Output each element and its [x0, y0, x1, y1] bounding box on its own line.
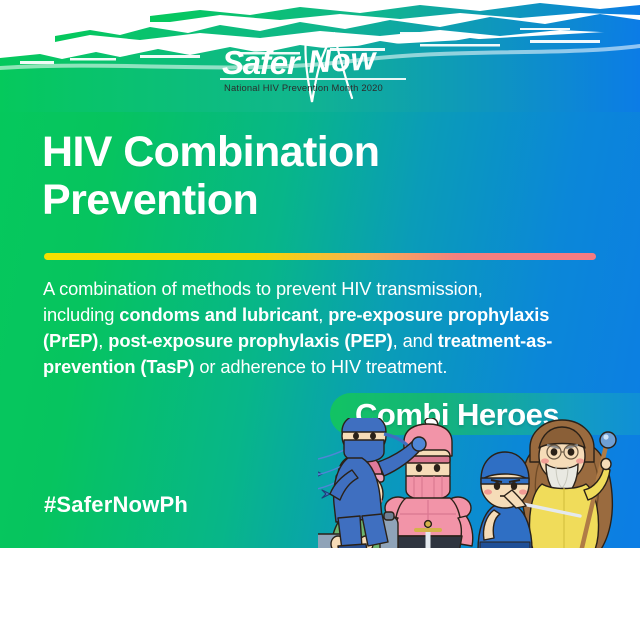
- header-brush-artwork: Safer Now National HIV Prevention Month …: [0, 0, 640, 112]
- body-seg-5: or adherence to HIV treatment.: [194, 356, 447, 377]
- logo-tagline: National HIV Prevention Month 2020: [224, 82, 383, 93]
- logo-underline: [220, 78, 406, 80]
- poster-canvas: Safer Now National HIV Prevention Month …: [0, 0, 640, 640]
- title-line-2: Prevention: [42, 176, 562, 224]
- body-copy: A combination of methods to prevent HIV …: [43, 276, 553, 380]
- body-bold-1: condoms and lubricant: [119, 304, 318, 325]
- body-seg-2: ,: [318, 304, 328, 325]
- logo-text-safer: Safer: [222, 44, 299, 82]
- body-bold-3: post-exposure prophylaxis (PEP): [108, 330, 392, 351]
- footer-panel: SKPA champion COMMUNITY CENTER: [0, 548, 640, 640]
- safernow-logo: Safer Now National HIV Prevention Month …: [222, 44, 422, 100]
- hashtag-label: #SaferNowPh: [44, 492, 188, 518]
- title-line-1: HIV Combination: [42, 128, 379, 176]
- gradient-divider: [44, 253, 596, 260]
- logo-swoosh-icon: [300, 32, 410, 110]
- page-title: HIV Combination Prevention: [42, 128, 562, 224]
- body-seg-3: ,: [98, 330, 108, 351]
- body-seg-4: , and: [393, 330, 438, 351]
